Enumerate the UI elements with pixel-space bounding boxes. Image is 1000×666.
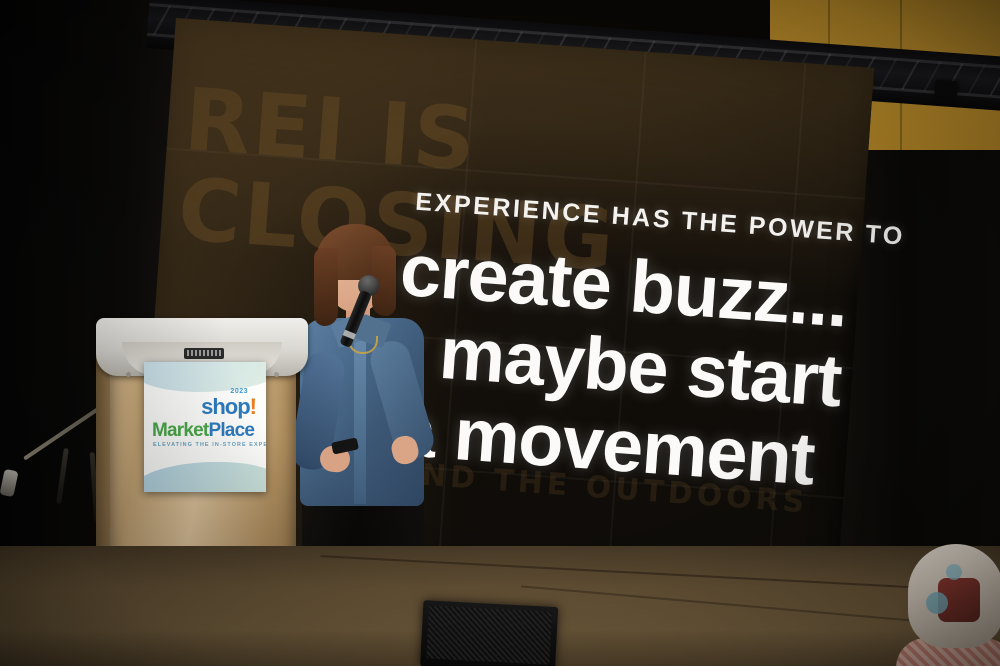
audience-member [890,526,1000,666]
truss-light-fixture [935,80,958,98]
logo-place-text: Place [208,420,254,441]
podium-screw [126,372,131,377]
speaker-grille-mesh [426,605,552,664]
podium-event-sign: 2023 shop! MarketPlace ELEVATING THE IN-… [144,362,266,492]
sign-wave-bottom [144,462,266,492]
logo-exclamation: ! [250,394,256,419]
logo-shop-text: shop [201,394,250,419]
audience-hair-accessory [926,592,948,614]
speaker-hair-side-left [314,248,338,326]
stage-monitor-speaker [420,600,558,666]
logo-market-text: Market [152,420,208,441]
scene-photo: REI IS CLOSING AND THE OUTDOORS EXPERIEN… [0,0,1000,666]
slide-headline-underlined-word: start [684,334,843,419]
logo-shop-word: shop! [201,394,256,420]
av-badge [184,348,224,359]
logo-tagline: ELEVATING THE IN-STORE EXPERIENCE [153,442,266,448]
podium-screw [274,372,279,377]
logo-marketplace: MarketPlace [152,420,254,442]
av-badge-text [187,350,221,356]
audience-hair-accessory [946,564,962,580]
